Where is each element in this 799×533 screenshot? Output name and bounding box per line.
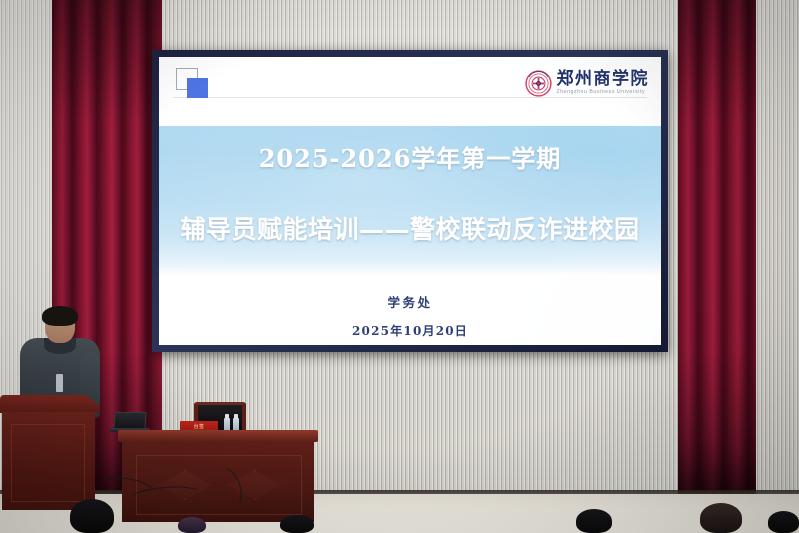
university-seal-icon (525, 70, 552, 97)
presentation-slide[interactable]: 郑州商学院 Zhengzhou Business University 2025… (159, 57, 661, 345)
nameplate-text: 台签 (194, 423, 205, 430)
decorative-squares (176, 68, 218, 98)
lecture-hall-scene: 郑州商学院 Zhengzhou Business University 2025… (0, 0, 799, 533)
audience-head (768, 511, 799, 533)
audience-head (576, 509, 612, 533)
university-logo: 郑州商学院 Zhengzhou Business University (525, 66, 650, 100)
logo-english-name: Zhengzhou Business University (557, 89, 650, 96)
water-bottle (224, 414, 230, 431)
podium-body (2, 412, 95, 510)
audience-head (178, 517, 206, 533)
audience-head (70, 499, 114, 533)
speaker-badge (56, 374, 63, 392)
audience-head (700, 503, 742, 533)
slide-date: 2025年10月20日 (159, 322, 661, 339)
projection-screen-frame: 郑州商学院 Zhengzhou Business University 2025… (152, 50, 668, 352)
slide-organization: 学务处 (159, 292, 661, 311)
slide-title-secondary: 辅导员赋能培训——警校联动反诈进校园 (159, 210, 661, 246)
water-bottle (233, 414, 239, 431)
laptop-screen (113, 412, 146, 429)
speaker-hair (42, 306, 78, 326)
laptop (110, 412, 150, 432)
slide-title-block: 2025-2026学年第一学期 辅导员赋能培训——警校联动反诈进校园 (159, 139, 661, 246)
slide-footer-block: 学务处 2025年10月20日 (159, 292, 661, 339)
logo-chinese-name: 郑州商学院 (557, 70, 650, 89)
curtain-right (678, 0, 756, 498)
podium-top (0, 395, 100, 413)
podium (0, 395, 100, 510)
slide-title-primary: 2025-2026学年第一学期 (159, 139, 661, 174)
audience-head (280, 515, 314, 533)
slide-header: 郑州商学院 Zhengzhou Business University (159, 57, 661, 108)
podium-panel (11, 424, 85, 502)
logo-text: 郑州商学院 Zhengzhou Business University (557, 70, 650, 96)
square-filled-icon (187, 78, 208, 98)
